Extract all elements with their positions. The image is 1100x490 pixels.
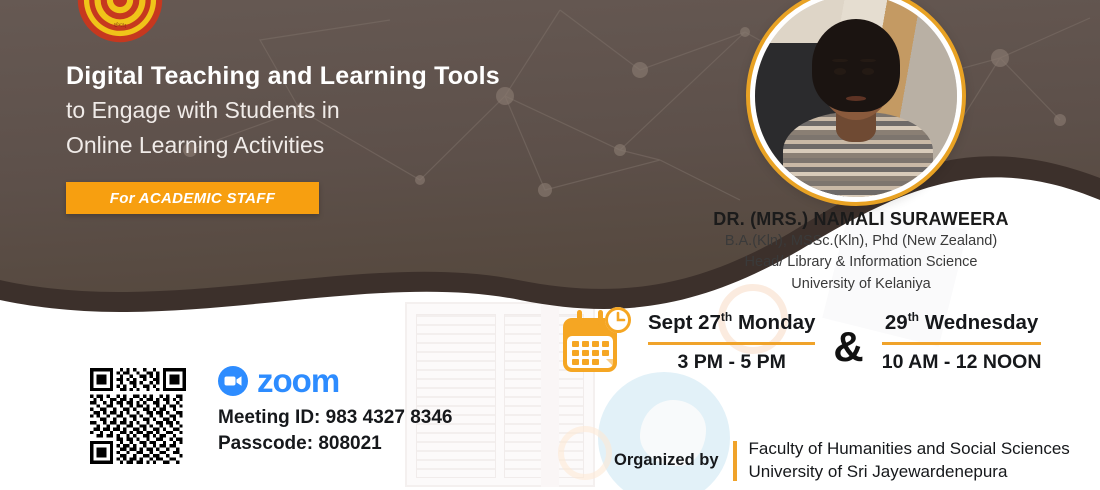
svg-text:ජායැ: ජායැ bbox=[114, 21, 127, 28]
speaker-name: DR. (MRS.) NAMALI SURAWEERA bbox=[640, 209, 1082, 230]
calendar-clock-icon bbox=[560, 306, 634, 378]
organizer-names: Faculty of Humanities and Social Science… bbox=[749, 438, 1070, 483]
session-2-day: Wednesday bbox=[925, 311, 1039, 334]
session-1-date-suffix: th bbox=[721, 310, 732, 324]
speaker-details: DR. (MRS.) NAMALI SURAWEERA B.A.(Kln), M… bbox=[640, 209, 1082, 294]
organizer-label: Organized by bbox=[614, 451, 719, 470]
session-1-date-text: Sept 27 bbox=[648, 311, 721, 334]
organizer-university: University of Sri Jayewardenepura bbox=[749, 461, 1070, 484]
university-emblem-icon: ජායැ bbox=[76, 0, 164, 44]
session-2-date-text: 29 bbox=[885, 311, 908, 334]
speaker-qualifications: B.A.(Kln), MSSc.(Kln), Phd (New Zealand) bbox=[640, 232, 1082, 251]
session-2: 29th Wednesday 10 AM - 12 NOON bbox=[882, 310, 1042, 374]
speaker-avatar bbox=[746, 0, 966, 206]
webinar-flyer: ONLINE EDUCATION bbox=[0, 0, 1100, 490]
session-1-day: Monday bbox=[738, 311, 815, 334]
video-camera-icon bbox=[218, 366, 248, 396]
session-2-date-suffix: th bbox=[908, 310, 919, 324]
session-2-date: 29th Wednesday bbox=[885, 310, 1038, 335]
speaker-affiliation: University of Kelaniya bbox=[640, 275, 1082, 294]
organizer-faculty: Faculty of Humanities and Social Science… bbox=[749, 438, 1070, 461]
page-title: Digital Teaching and Learning Tools bbox=[66, 62, 500, 91]
clock-ring-decoration-small bbox=[558, 426, 612, 480]
schedule-separator: & bbox=[833, 326, 863, 368]
zoom-meeting-block: zoom Meeting ID: 983 4327 8346 Passcode:… bbox=[218, 366, 452, 456]
speaker-photo bbox=[755, 0, 957, 197]
audience-badge-label: For ACADEMIC STAFF bbox=[110, 190, 275, 207]
zoom-credentials: Meeting ID: 983 4327 8346 Passcode: 8080… bbox=[218, 405, 452, 456]
session-2-time: 10 AM - 12 NOON bbox=[882, 351, 1042, 374]
speaker-position: Head/ Library & Information Science bbox=[640, 253, 1082, 272]
schedule-block: Sept 27th Monday 3 PM - 5 PM & 29th Wedn… bbox=[560, 306, 1041, 378]
zoom-meeting-id: Meeting ID: 983 4327 8346 bbox=[218, 405, 452, 431]
zoom-passcode: Passcode: 808021 bbox=[218, 431, 452, 457]
session-2-divider bbox=[882, 342, 1042, 345]
headline-block: Digital Teaching and Learning Tools to E… bbox=[66, 62, 500, 161]
audience-badge: For ACADEMIC STAFF bbox=[66, 182, 319, 214]
page-subtitle-line-1: to Engage with Students in bbox=[66, 95, 500, 126]
zoom-wordmark: zoom bbox=[257, 366, 339, 396]
organizer-divider bbox=[733, 441, 737, 481]
session-1-date: Sept 27th Monday bbox=[648, 310, 815, 335]
session-1-time: 3 PM - 5 PM bbox=[678, 351, 786, 374]
organizer-block: Organized by Faculty of Humanities and S… bbox=[614, 438, 1070, 483]
qr-code[interactable] bbox=[90, 368, 186, 464]
session-1-divider bbox=[648, 342, 815, 345]
session-1: Sept 27th Monday 3 PM - 5 PM bbox=[648, 310, 815, 374]
zoom-logo: zoom bbox=[218, 366, 452, 396]
page-subtitle-line-2: Online Learning Activities bbox=[66, 130, 500, 161]
